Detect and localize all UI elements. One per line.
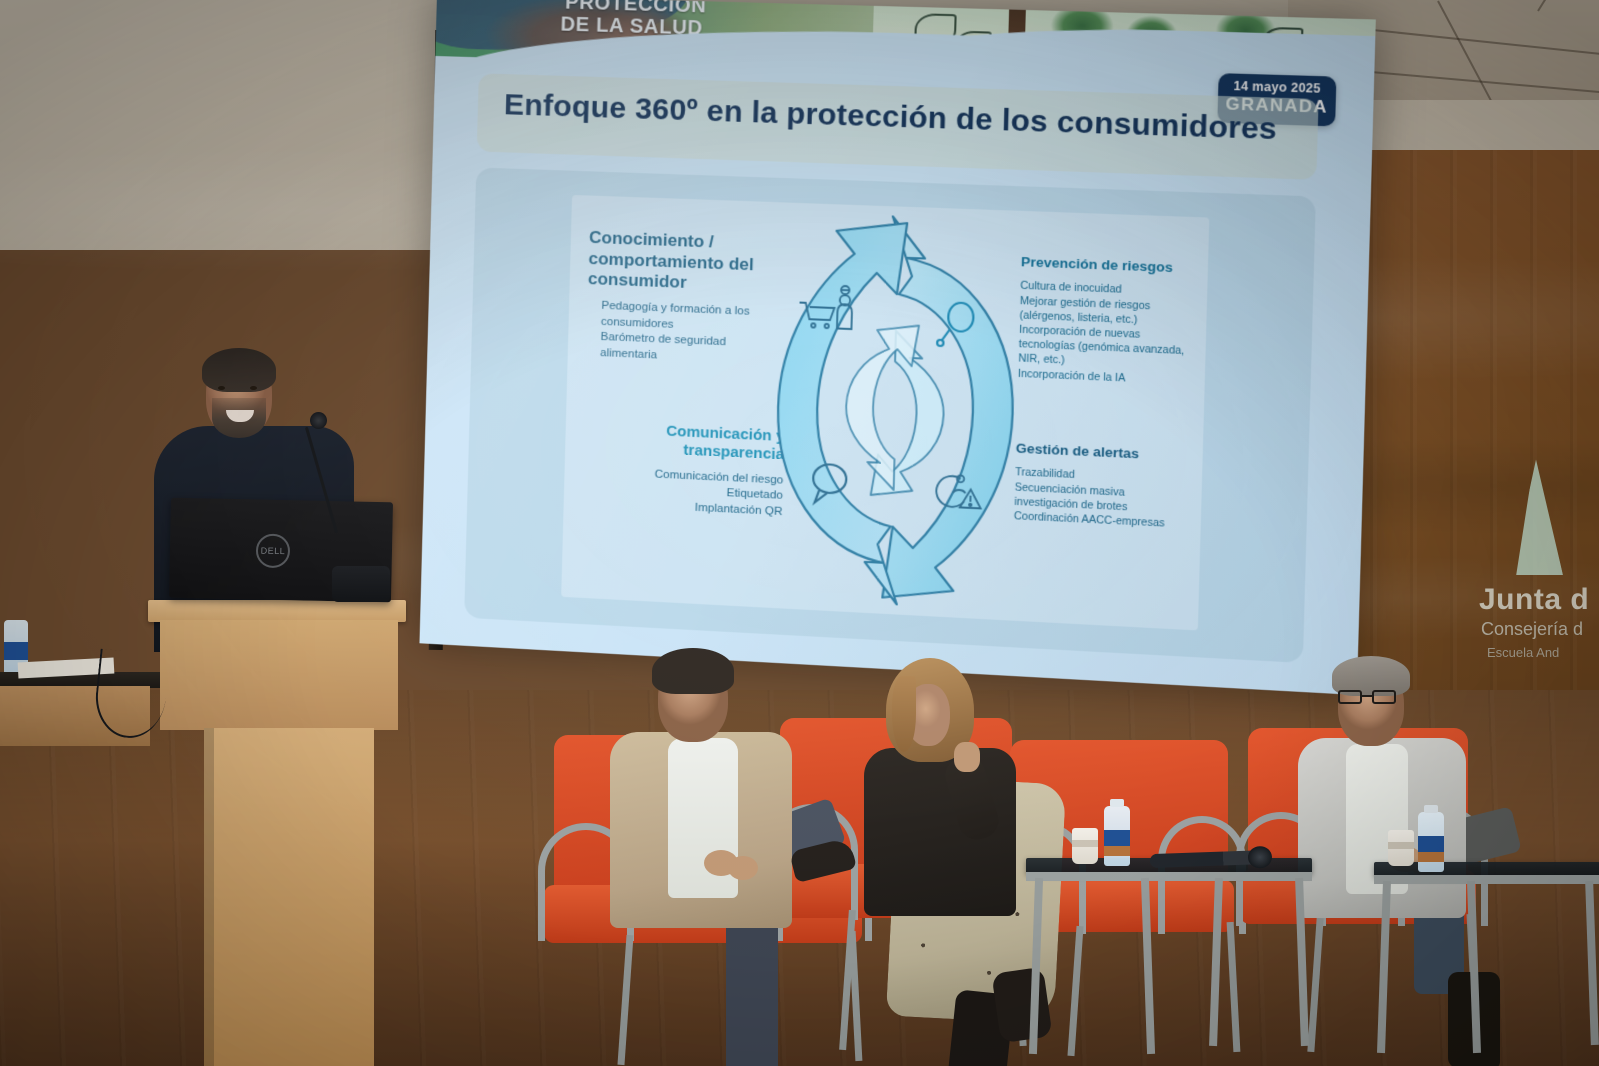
- quadrant-risk-prevention-body: Cultura de inocuidad Mejorar gestión de …: [1018, 279, 1200, 388]
- presenter-eye-left: [218, 386, 225, 390]
- presenter-hair: [202, 348, 276, 392]
- quadrant-communication-heading: Comunicación y transparencia: [595, 419, 784, 465]
- sign-line-1: Junta d: [1479, 583, 1589, 617]
- sign-line-2: Consejería d: [1481, 619, 1583, 640]
- quadrant-communication: Comunicación y transparencia Comunicació…: [594, 419, 785, 520]
- paper-cup: [1388, 830, 1414, 866]
- projection-screen: PROTECCIÓN DE LA SALUD 14 mayo 2025 GRAN…: [419, 0, 1375, 695]
- water-bottle: [1104, 806, 1130, 866]
- presenter-eye-right: [250, 386, 257, 390]
- eyeglasses-icon: [1338, 690, 1402, 704]
- panelist-1: [596, 648, 856, 1048]
- venue-wall-sign: Junta d Consejería d Escuela And: [1455, 455, 1599, 655]
- water-bottle: [1418, 812, 1444, 872]
- paper-cup: [1072, 828, 1098, 864]
- quadrant-alerts: Gestión de alertas Trazabilidad Secuenci…: [1014, 440, 1201, 532]
- quadrant-knowledge-body: Pedagogía y formación a los consumidores…: [586, 298, 766, 368]
- gooseneck-microphone-head: [310, 412, 327, 429]
- conference-hall-scene: Junta d Consejería d Escuela And PROTECC…: [0, 0, 1599, 1066]
- audio-device: [332, 566, 390, 602]
- podium: [148, 600, 406, 1066]
- side-table-center: [1026, 858, 1312, 1058]
- quadrant-knowledge: Conocimiento / comportamiento del consum…: [586, 228, 768, 369]
- quadrant-communication-body: Comunicación del riesgo Etiquetado Impla…: [594, 464, 784, 520]
- quadrant-alerts-body: Trazabilidad Secuenciación masiva invest…: [1014, 465, 1200, 532]
- andalusia-logo-icon: [1511, 455, 1563, 575]
- cycle-diagram: [760, 204, 1030, 619]
- side-table-right: [1374, 862, 1599, 1058]
- quadrant-knowledge-heading: Conocimiento / comportamiento del consum…: [588, 228, 768, 298]
- quadrant-risk-prevention: Prevención de riesgos Cultura de inocuid…: [1018, 254, 1201, 388]
- dell-logo: DELL: [256, 533, 291, 568]
